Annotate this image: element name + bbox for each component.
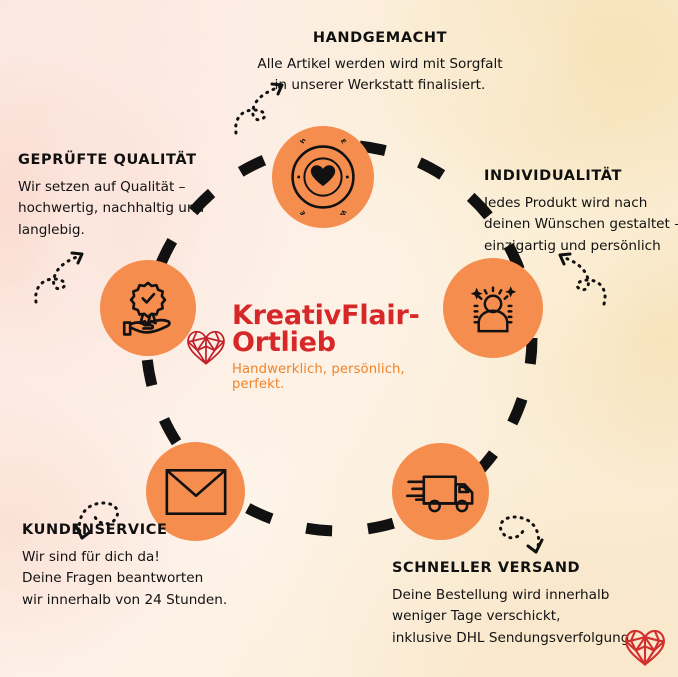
- handmade-with-love-stamp-icon: HANDMADE WITH LOVE: [285, 139, 361, 215]
- feature-line: Wir setzen auf Qualität –: [18, 177, 243, 198]
- infographic-poster: HANDMADE WITH LOVE HANDGEMACHT Alle Arti…: [0, 0, 678, 677]
- feature-icon-geprufte-qualitaet[interactable]: [100, 260, 196, 356]
- envelope-icon: [165, 468, 227, 516]
- feature-text-geprufte-qualitaet: GEPRÜFTE QUALITÄT Wir setzen auf Qualitä…: [18, 152, 243, 241]
- brand-name: KreativFlair-Ortlieb: [232, 302, 456, 356]
- feature-line: Deine Fragen beantworten: [22, 568, 257, 589]
- feature-title: KUNDENSERVICE: [22, 522, 257, 539]
- feature-icon-schneller-versand[interactable]: [392, 443, 489, 540]
- feature-icon-individualitaet[interactable]: [443, 258, 543, 358]
- feature-line: deinen Wünschen gestaltet –: [484, 214, 678, 235]
- svg-text:WITH LOVE: WITH LOVE: [299, 208, 348, 215]
- feature-text-kundenservice: KUNDENSERVICE Wir sind für dich da! Dein…: [22, 522, 257, 611]
- brand-tagline: Handwerklich, persönlich, perfekt.: [232, 362, 456, 392]
- delivery-truck-icon: [406, 466, 476, 518]
- brand-logo[interactable]: KreativFlair-Ortlieb Handwerklich, persö…: [186, 312, 456, 382]
- feature-line: Jedes Produkt wird nach: [484, 193, 678, 214]
- feature-line: weniger Tage verschickt,: [392, 606, 677, 627]
- feature-title: GEPRÜFTE QUALITÄT: [18, 152, 243, 169]
- feature-line: Deine Bestellung wird innerhalb: [392, 585, 677, 606]
- geometric-heart-icon: [624, 627, 666, 667]
- feature-line: Alle Artikel werden wird mit Sorgfalt: [230, 54, 530, 75]
- feature-text-individualitaet: INDIVIDUALITÄT Jedes Produkt wird nach d…: [484, 168, 678, 257]
- geometric-heart-icon: [186, 323, 226, 371]
- feature-icon-handgemacht[interactable]: HANDMADE WITH LOVE: [272, 126, 374, 228]
- feature-title: INDIVIDUALITÄT: [484, 168, 678, 185]
- feature-line: einzigartig und persönlich: [484, 236, 678, 257]
- feature-title: HANDGEMACHT: [230, 30, 530, 47]
- person-with-sparkles-icon: [459, 274, 527, 342]
- feature-title: SCHNELLER VERSAND: [392, 560, 677, 577]
- feature-line: langlebig.: [18, 220, 243, 241]
- hand-holding-quality-badge-icon: [115, 275, 181, 341]
- feature-line: wir innerhalb von 24 Stunden.: [22, 590, 257, 611]
- svg-text:HANDMADE: HANDMADE: [299, 139, 348, 146]
- feature-line: Wir sind für dich da!: [22, 547, 257, 568]
- feature-line: hochwertig, nachhaltig und: [18, 198, 243, 219]
- feature-text-handgemacht: HANDGEMACHT Alle Artikel werden wird mit…: [230, 30, 530, 97]
- curly-dotted-arrow-icon: [30, 248, 92, 306]
- feature-line: in unserer Werkstatt finalisiert.: [230, 75, 530, 96]
